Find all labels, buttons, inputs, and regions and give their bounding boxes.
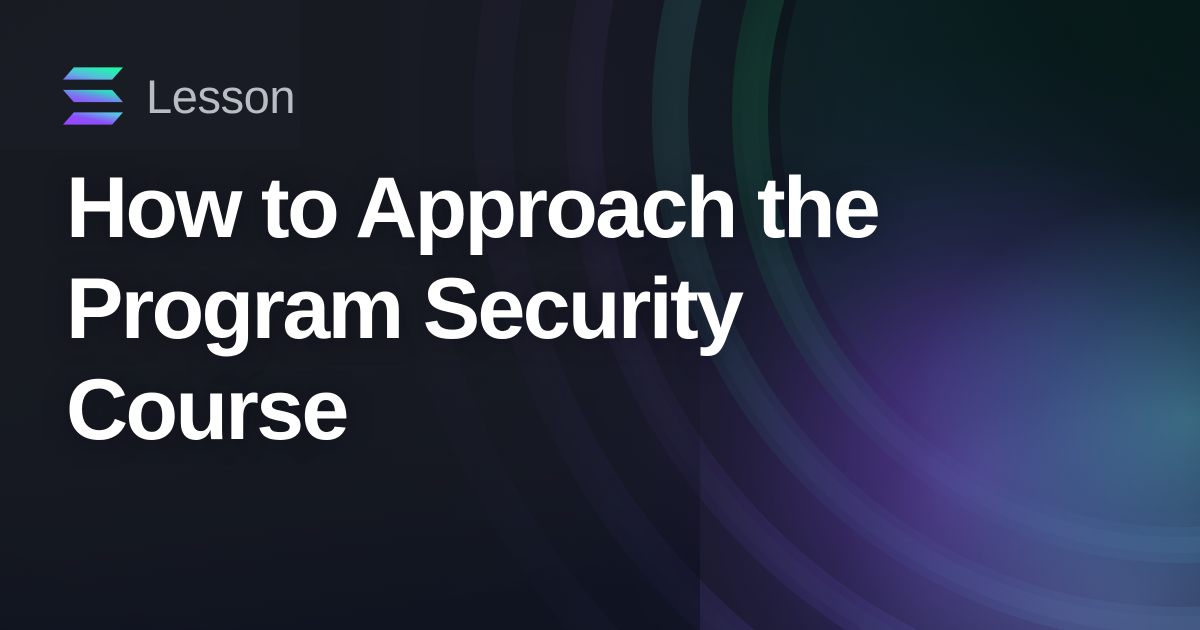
title-line-1: How to Approach the — [66, 158, 1076, 259]
card-content: Lesson How to Approach the Program Secur… — [0, 0, 1200, 630]
lesson-banner-card: Lesson How to Approach the Program Secur… — [0, 0, 1200, 630]
solana-logo-icon — [62, 66, 124, 126]
title-line-3: Course — [66, 360, 1076, 461]
brand-row: Lesson — [62, 66, 295, 126]
page-title: How to Approach the Program Security Cou… — [66, 158, 1076, 461]
brand-label: Lesson — [146, 73, 295, 120]
title-line-2: Program Security — [66, 259, 1076, 360]
